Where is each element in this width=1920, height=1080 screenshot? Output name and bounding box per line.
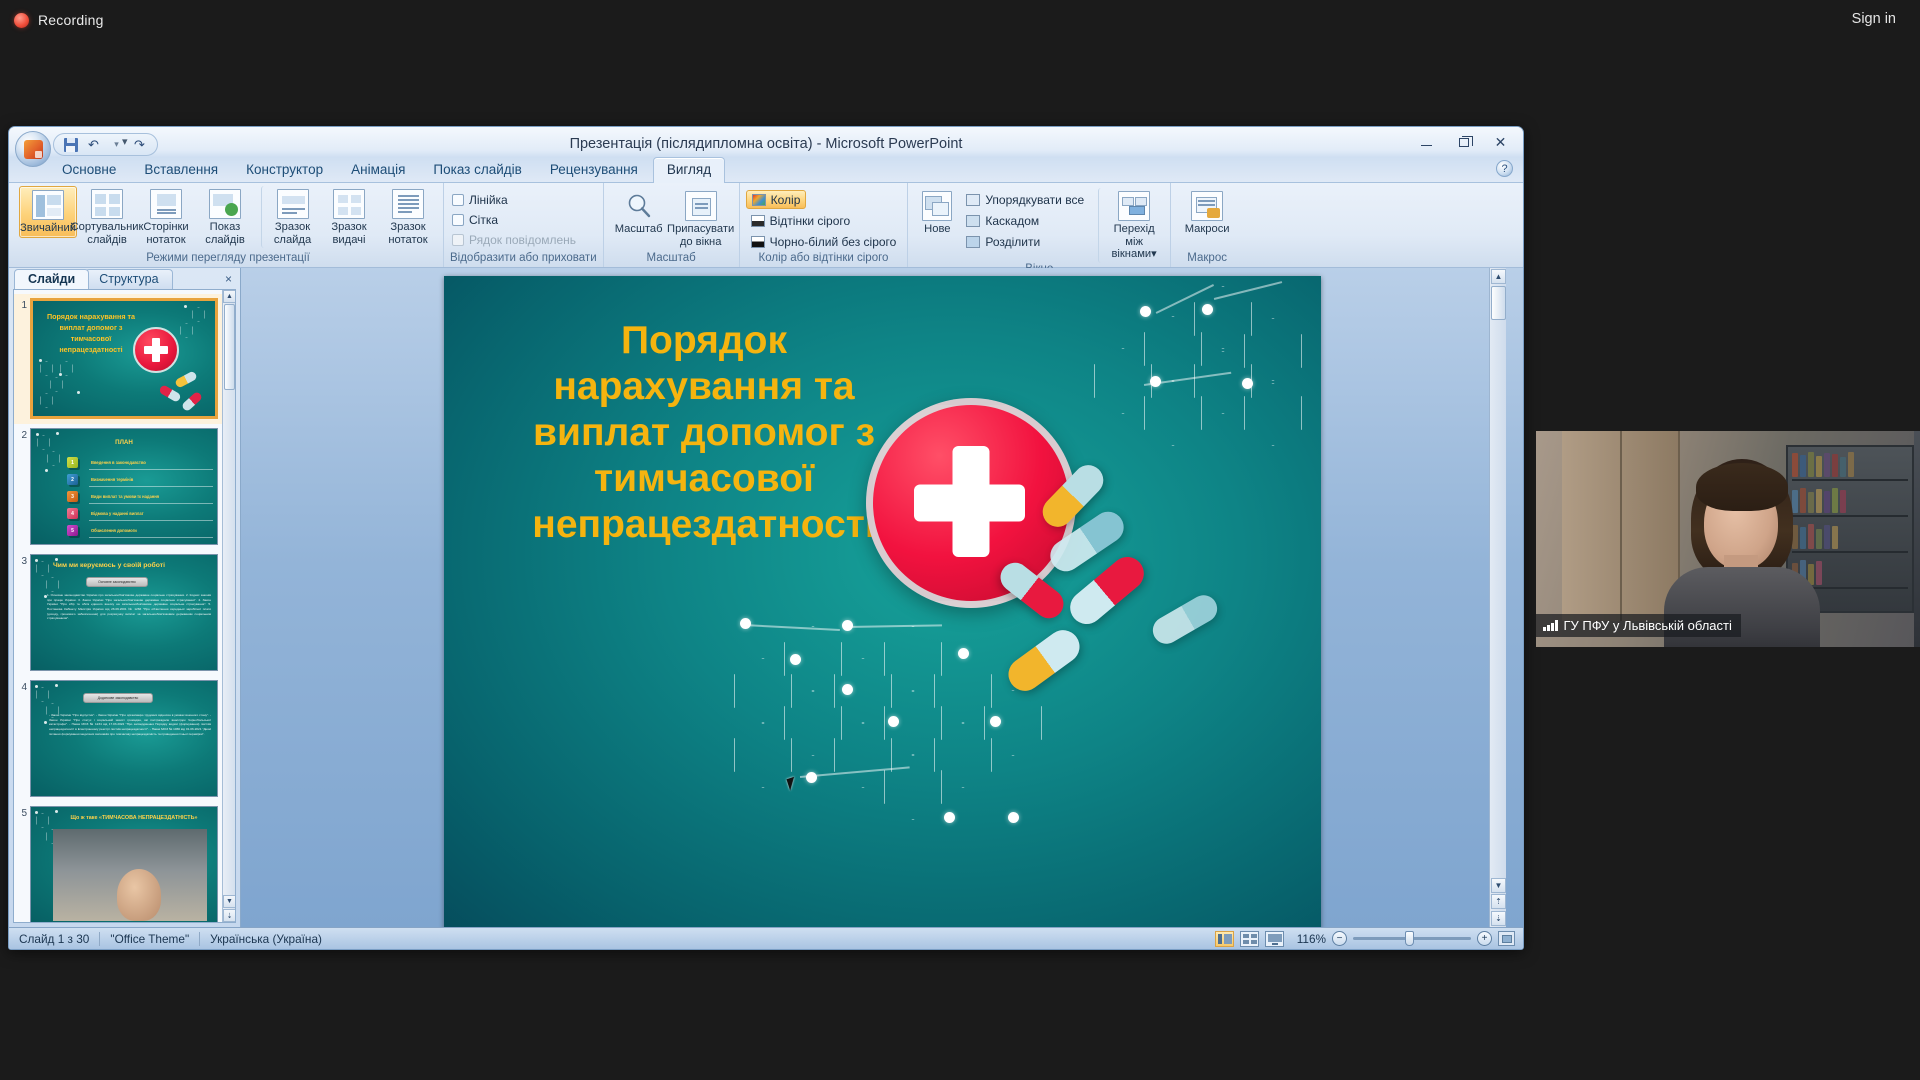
record-dot-icon [14,13,29,28]
slide-show-button[interactable] [1265,931,1284,947]
slide-thumbnail-3[interactable]: Чим ми керуємось у своїй роботі Основне … [30,554,218,671]
help-icon[interactable]: ? [1496,160,1513,177]
thumbnail-number: 1 [16,298,30,311]
slides-pane-tabs: Слайди Структура × [9,268,240,289]
pill-capsule-icon [1002,624,1086,698]
tab-review[interactable]: Рецензування [537,158,651,183]
checkbox-message-bar-label: Рядок повідомлень [469,233,576,247]
signal-bars-icon [1543,620,1558,631]
switch-windows-button[interactable]: Перехід між вікнами▾ [1098,188,1164,263]
arrange-all-label: Упорядкувати все [985,193,1084,207]
color-button-label: Колір [771,193,801,207]
scroll-down-button[interactable]: ▼ [223,895,236,908]
slides-pane: Слайди Структура × 1 [9,268,241,927]
scrollbar-thumb[interactable] [1491,286,1506,320]
pill-capsule-icon [181,391,203,412]
plan-cube-5: 5 [67,525,78,536]
group-title-show-hide: Відобразити або приховати [450,252,597,267]
ribbon-group-presentation-views: Звичайний Сортувальник слайдів [13,183,443,267]
fit-slide-to-window-icon[interactable] [1498,931,1515,946]
thumbnail-title: Порядок нарахування та виплат допомог з … [43,311,139,356]
checkbox-icon [452,214,464,226]
list-item[interactable]: 1 [14,294,222,424]
recording-label: Recording [38,12,104,28]
next-slide-button[interactable]: ⇣ [223,909,236,922]
thumbnail-body: 1. Основне законодавство України про заг… [47,593,211,621]
tab-home[interactable]: Основне [49,158,129,183]
handout-master-label: Зразок видачі [321,221,377,246]
status-bar-right: 116% − + [1215,931,1523,947]
slide-show-label: Показ слайдів [197,221,253,246]
slide-thumbnail-1[interactable]: Порядок нарахування та виплат допомог з … [30,298,218,419]
scroll-up-button[interactable]: ▲ [223,290,236,303]
arrange-all-button[interactable]: Упорядкувати все [961,190,1089,209]
thumbnail-title: Що ж таке «ТИМЧАСОВА НЕПРАЦЕЗДАТНІСТЬ» [55,815,213,821]
checkbox-gridlines[interactable]: Сітка [450,210,498,229]
medical-cross-badge-icon [133,327,179,373]
switch-windows-icon [1118,191,1150,221]
close-pane-button[interactable]: × [225,272,232,286]
sign-in-button[interactable]: Sign in [1844,8,1904,30]
slide-show-button[interactable]: Показ слайдів [196,186,254,248]
new-window-icon [922,191,952,221]
macros-icon [1191,191,1223,221]
thumbnail-list: 1 [14,290,222,922]
checkbox-icon [452,234,464,246]
thumbnail-scroll-area: 1 [13,289,236,923]
plan-cube-3: 3 [67,491,78,502]
blackwhite-button-label: Чорно-білий без сірого [770,235,897,249]
ribbon: Звичайний Сортувальник слайдів [9,183,1523,268]
notes-master-icon [392,189,424,219]
macros-button[interactable]: Макроси [1177,188,1237,238]
background-cabinet [1562,431,1680,621]
color-swatch-icon [752,194,766,206]
plan-item-label: Введення в законодавство [91,460,146,465]
handout-master-button[interactable]: Зразок видачі [320,186,378,248]
slide-canvas[interactable]: Порядок нарахування та виплат допомог з … [444,276,1321,939]
tab-slides[interactable]: Слайди [14,269,89,289]
plan-item-label: Відмова у наданні виплат [91,511,144,516]
split-label: Розділити [985,235,1040,249]
thumbnail-body: - Закон України "Про відпустки". - Закон… [49,713,211,736]
fit-to-window-icon [685,191,717,221]
list-item[interactable]: 4 Додаткове законодавство - Закон Україн… [14,676,222,802]
group-title-color: Колір або відтінки сірого [746,252,902,267]
zoom-slider-handle[interactable] [1405,931,1414,946]
editor-scrollbar[interactable]: ▲ ▼ ⇡ ⇣ [1489,268,1506,927]
zoom-slider[interactable] [1353,937,1471,940]
zoom-button-label: Масштаб [615,223,663,236]
window-controls: ✕ [1408,131,1519,153]
slide-sorter-button[interactable]: Сортувальник слайдів [78,186,136,248]
checkbox-icon [452,194,464,206]
status-badge: Основне законодавство [86,577,148,587]
restore-button[interactable] [1445,131,1482,153]
handout-master-icon [333,189,365,219]
slide-editor: Порядок нарахування та виплат допомог з … [242,268,1506,927]
list-item[interactable]: 5 Що ж таке «ТИМЧАСОВА НЕПРАЦЕЗДАТНІСТЬ» [14,802,222,923]
color-button[interactable]: Колір [746,190,807,209]
notes-page-button[interactable]: Сторінки нотаток [137,186,195,248]
theme-name[interactable]: "Office Theme" [100,928,199,949]
ribbon-tab-strip: Основне Вставлення Конструктор Анімація … [9,155,725,183]
fit-to-window-label: Припасувати до вікна [667,223,734,248]
normal-view-button[interactable]: Звичайний [19,186,77,238]
grayscale-button[interactable]: Відтінки сірого [746,211,856,230]
title-bar: ↶ ▾ ↷ ▾ Презентація (післядипломна освіт… [9,127,1523,183]
list-item[interactable]: 2 ПЛАН 1 Введення в законодавство [14,424,222,550]
zoom-level[interactable]: 116% [1290,932,1326,946]
participant-name-label: ГУ ПФУ у Львівській області [1536,614,1741,637]
checkbox-ruler-label: Лінійка [469,193,508,207]
arrange-all-icon [966,194,980,206]
fit-to-window-button[interactable]: Припасувати до вікна [669,188,733,250]
group-title-macros: Макрос [1177,252,1237,267]
plan-cube-1: 1 [67,457,78,468]
thumbnail-number: 4 [16,680,30,693]
grayscale-button-label: Відтінки сірого [770,214,851,228]
group-title-presentation-views: Режими перегляду презентації [19,252,437,267]
page-title: Презентація (післядипломна освіта) - Mic… [9,136,1523,152]
tab-slideshow[interactable]: Показ слайдів [420,158,534,183]
plan-item-label: Види виплат та умови їх надання [91,494,159,499]
scroll-up-button[interactable]: ▲ [1491,269,1506,284]
mouse-cursor [786,775,802,790]
participant-video-tile[interactable]: ГУ ПФУ у Львівській області [1536,431,1920,647]
ribbon-group-color: Колір Відтінки сірого Чорно-білий без сі… [739,183,908,267]
thumbnail-title: Чим ми керуємось у своїй роботі [53,562,217,569]
plan-cube-4: 4 [67,508,78,519]
slide-thumbnail-5[interactable]: Що ж таке «ТИМЧАСОВА НЕПРАЦЕЗДАТНІСТЬ» [30,806,218,923]
list-item[interactable]: 3 Чим ми керуємось у своїй роботі Основн… [14,550,222,676]
split-button[interactable]: Розділити [961,232,1089,251]
normal-view-icon [32,190,64,220]
plan-item-label: Обчислення допомоги [91,528,137,533]
new-window-label: Нове [924,223,950,236]
ribbon-group-macros: Макроси Макрос [1170,183,1243,267]
slide-sorter-label: Сортувальник слайдів [71,221,144,246]
plan-cube-2: 2 [67,474,78,485]
thumbnail-number: 3 [16,554,30,567]
checkbox-gridlines-label: Сітка [469,213,498,227]
pill-capsule-icon [174,370,198,388]
scrollbar-thumb[interactable] [224,304,235,390]
slide-master-label: Зразок слайда [267,221,318,246]
tab-design[interactable]: Конструктор [233,158,336,183]
new-window-button[interactable]: Нове [914,188,960,238]
cascade-icon [966,215,980,227]
checkbox-message-bar[interactable]: Рядок повідомлень [450,230,576,249]
ribbon-group-zoom: Масштаб Припасувати до вікна Масштаб [603,183,739,267]
zoom-in-button[interactable]: + [1477,931,1492,946]
slide-thumbnail-2[interactable]: ПЛАН 1 Введення в законодавство 2 Визнач… [30,428,218,545]
ribbon-group-show-hide: Лінійка Сітка Рядок повідомлень Відобраз… [443,183,603,267]
slide-title[interactable]: Порядок нарахування та виплат допомог з … [489,318,919,548]
thumbnail-scrollbar[interactable]: ▲ ▼ ⇣ [222,290,235,922]
grayscale-swatch-icon [751,215,765,227]
thumbnail-number: 5 [16,806,30,819]
slide-sorter-button[interactable] [1240,931,1259,947]
meeting-top-bar: Recording Sign in [0,0,1920,40]
magnifier-icon [624,191,654,221]
pill-capsule-icon [1148,590,1222,648]
slide-thumbnail-4[interactable]: Додаткове законодавство - Закон України … [30,680,218,797]
blackwhite-button[interactable]: Чорно-білий без сірого [746,232,902,251]
tab-insert[interactable]: Вставлення [131,158,231,183]
status-bar: Слайд 1 з 30 "Office Theme" Українська (… [9,927,1523,949]
notes-master-label: Зразок нотаток [380,221,436,246]
scroll-down-button[interactable]: ▼ [1491,878,1506,893]
notes-page-icon [150,189,182,219]
slide-sorter-icon [91,189,123,219]
work-area: Слайди Структура × 1 [9,268,1523,927]
cascade-button[interactable]: Каскадом [961,211,1089,230]
checkbox-ruler[interactable]: Лінійка [450,190,508,209]
thumbnail-number: 2 [16,428,30,441]
tab-outline[interactable]: Структура [85,269,172,289]
slide-show-icon [209,189,241,219]
recording-indicator: Recording [14,12,104,28]
participant-name: ГУ ПФУ у Львівській області [1564,618,1732,633]
group-title-zoom: Масштаб [610,252,733,267]
zoom-button[interactable]: Масштаб [610,188,668,238]
blackwhite-swatch-icon [751,236,765,248]
tab-animations[interactable]: Анімація [338,158,418,183]
slide-counter[interactable]: Слайд 1 з 30 [9,928,99,949]
normal-view-label: Звичайний [20,222,76,235]
meeting-window: Recording Sign in ↶ ▾ ↷ ▾ Презентація (п… [0,0,1920,1080]
thumbnail-photo-subject [117,869,161,921]
switch-windows-label: Перехід між вікнами▾ [1105,223,1163,261]
tab-view[interactable]: Вигляд [653,157,725,183]
cascade-label: Каскадом [985,214,1039,228]
thumbnail-title: ПЛАН [31,439,217,446]
powerpoint-window: ↶ ▾ ↷ ▾ Презентація (післядипломна освіт… [8,126,1524,950]
macros-label: Макроси [1185,223,1230,236]
minimize-button[interactable] [1408,131,1445,153]
split-icon [966,236,980,248]
normal-view-button[interactable] [1215,931,1234,947]
plan-item-label: Визначення термінів [91,477,133,482]
ribbon-group-window: Нове Упорядкувати все Каскадом [907,183,1170,267]
previous-slide-button[interactable]: ⇡ [1491,894,1506,909]
zoom-out-button[interactable]: − [1332,931,1347,946]
status-badge: Додаткове законодавство [83,693,153,703]
notes-page-label: Сторінки нотаток [138,221,194,246]
close-button[interactable]: ✕ [1482,131,1519,153]
language-indicator[interactable]: Українська (Україна) [200,928,332,949]
chevron-down-icon[interactable]: ▾ [1151,248,1157,260]
next-slide-button[interactable]: ⇣ [1491,911,1506,926]
notes-master-button[interactable]: Зразок нотаток [379,186,437,248]
slide-master-button[interactable]: Зразок слайда [261,186,319,248]
slide-master-icon [277,189,309,219]
